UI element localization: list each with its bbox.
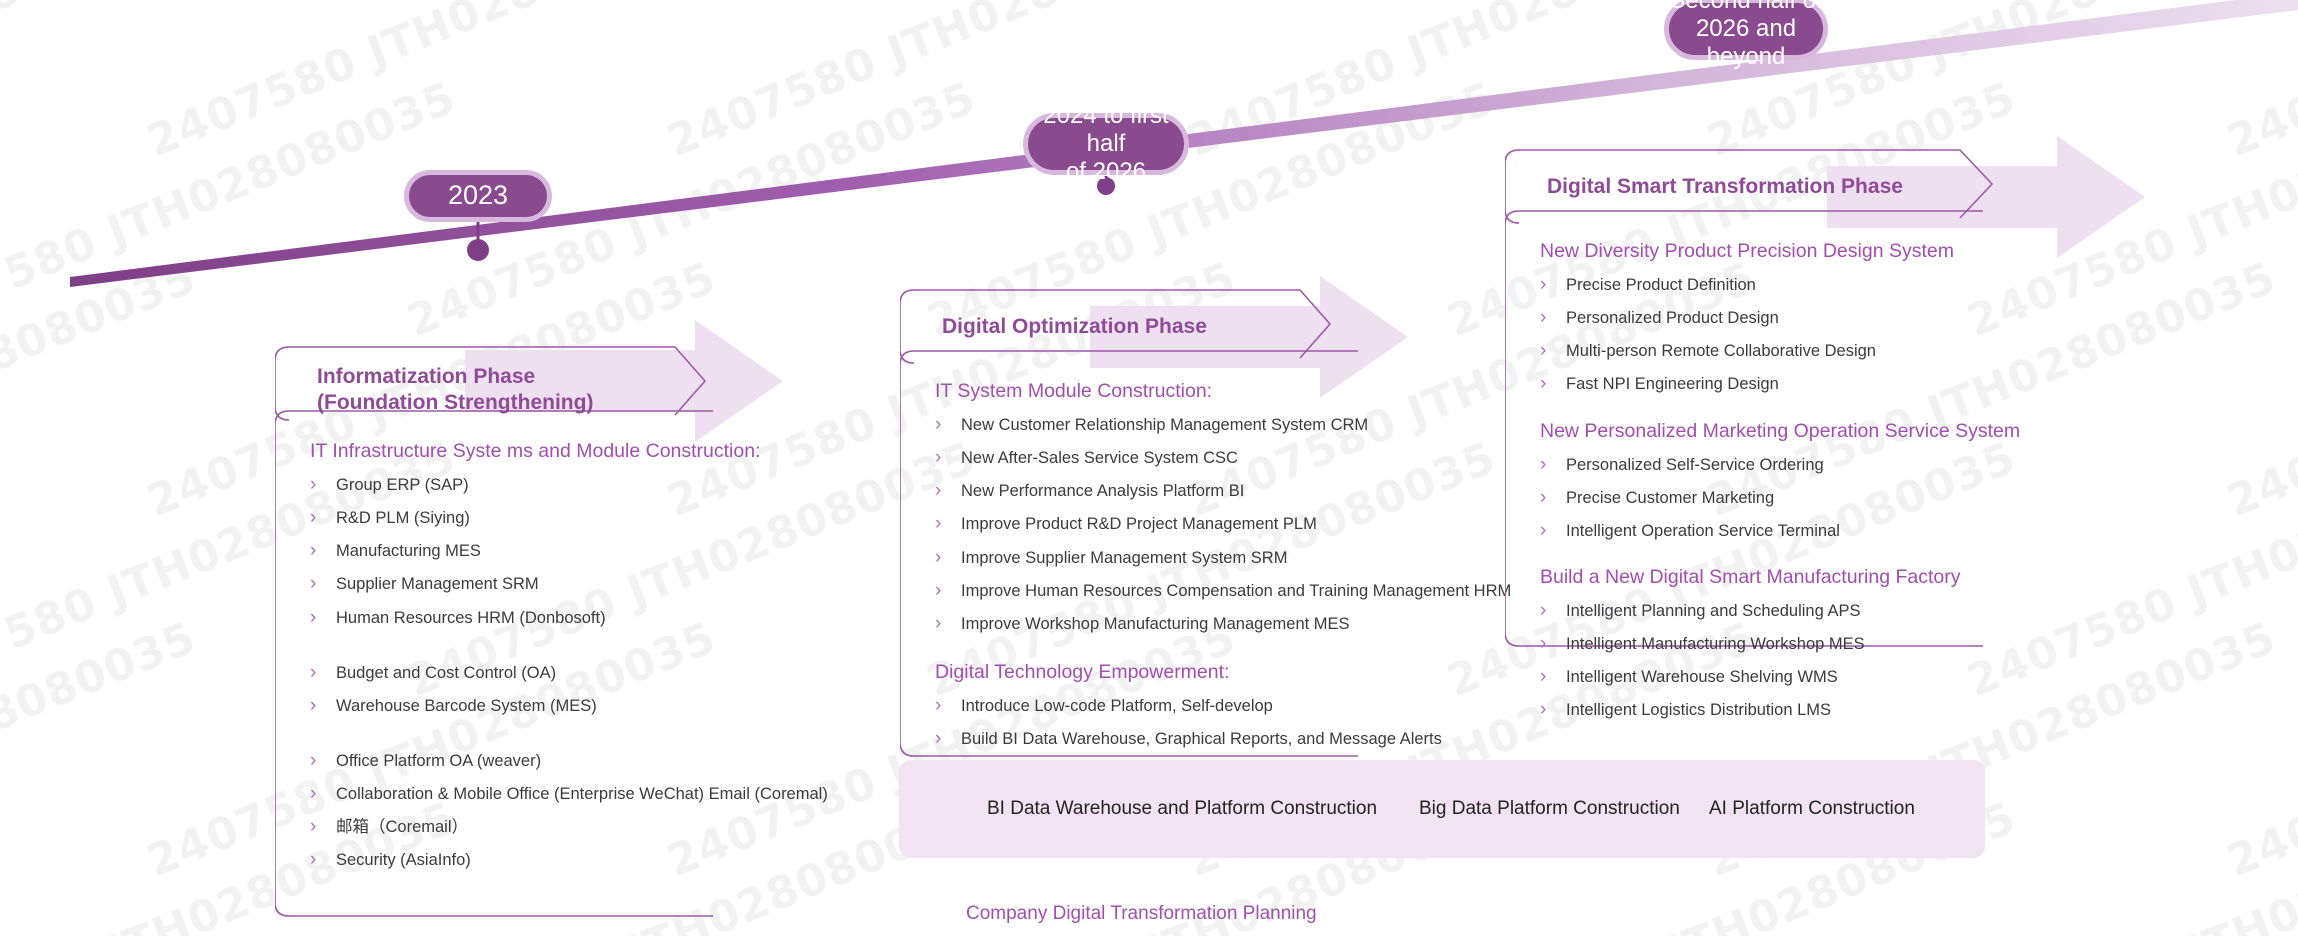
list-item[interactable]: ›Personalized Self-Service Ordering bbox=[1540, 455, 2100, 476]
list-item[interactable]: ›Improve Product R&D Project Management … bbox=[935, 514, 1555, 535]
list-spacer bbox=[310, 729, 830, 751]
list-item-label: Introduce Low-code Platform, Self-develo… bbox=[961, 697, 1273, 715]
list-spacer bbox=[935, 647, 1555, 661]
list-item[interactable]: ›Intelligent Warehouse Shelving WMS bbox=[1540, 667, 2100, 688]
list-item[interactable]: ›Precise Customer Marketing bbox=[1540, 488, 2100, 509]
infographic-canvas: 2407580 JTH0280800352407580 JTH028080035… bbox=[0, 0, 2298, 936]
platform-construction-band: BI Data Warehouse and Platform Construct… bbox=[899, 760, 1985, 858]
list-item-label: Supplier Management SRM bbox=[336, 575, 539, 593]
chevron-right-icon: › bbox=[310, 782, 316, 806]
chevron-right-icon: › bbox=[935, 413, 941, 437]
platform-item-bigdata[interactable]: Big Data Platform Construction bbox=[1419, 798, 1680, 820]
section-heading: Digital Technology Empowerment: bbox=[935, 661, 1555, 684]
watermark-text: 2407580 JTH028080035 bbox=[0, 612, 203, 887]
phase-title: Digital Optimization Phase bbox=[942, 314, 1207, 340]
list-spacer bbox=[310, 641, 830, 663]
list-item-label: Office Platform OA (weaver) bbox=[336, 752, 541, 770]
timeline-milestone-2023[interactable]: 2023 bbox=[404, 170, 552, 222]
list-item-label: Improve Product R&D Project Management P… bbox=[961, 515, 1317, 533]
chevron-right-icon: › bbox=[1540, 372, 1546, 396]
list-item-label: Precise Product Definition bbox=[1566, 276, 1756, 294]
list-item-label: Human Resources HRM (Donbosoft) bbox=[336, 609, 606, 627]
chevron-right-icon: › bbox=[935, 479, 941, 503]
chevron-right-icon: › bbox=[310, 539, 316, 563]
list-item[interactable]: ›Office Platform OA (weaver) bbox=[310, 751, 830, 772]
list-item[interactable]: ›Security (AsiaInfo) bbox=[310, 850, 830, 871]
list-item-label: New Customer Relationship Management Sys… bbox=[961, 416, 1368, 434]
list-item-label: Intelligent Logistics Distribution LMS bbox=[1566, 701, 1831, 719]
list-item[interactable]: ›Collaboration & Mobile Office (Enterpri… bbox=[310, 784, 830, 805]
list-item-label: Fast NPI Engineering Design bbox=[1566, 375, 1779, 393]
chevron-right-icon: › bbox=[935, 546, 941, 570]
list-item-label: New Performance Analysis Platform BI bbox=[961, 482, 1244, 500]
list-item[interactable]: ›Intelligent Manufacturing Workshop MES bbox=[1540, 634, 2100, 655]
chevron-right-icon: › bbox=[310, 606, 316, 630]
list-item[interactable]: ›Budget and Cost Control (OA) bbox=[310, 663, 830, 684]
phase-body-content: New Diversity Product Precision Design S… bbox=[1540, 240, 2100, 733]
list-item[interactable]: ›Improve Workshop Manufacturing Manageme… bbox=[935, 614, 1555, 635]
chevron-right-icon: › bbox=[935, 512, 941, 536]
list-item-label: Multi-person Remote Collaborative Design bbox=[1566, 342, 1876, 360]
chevron-right-icon: › bbox=[1540, 273, 1546, 297]
phase-title: Digital Smart Transformation Phase bbox=[1547, 174, 1903, 200]
phase-title: Informatization Phase(Foundation Strengt… bbox=[317, 364, 593, 415]
phase-body-content: IT Infrastructure Syste ms and Module Co… bbox=[310, 440, 830, 883]
list-item-label: Precise Customer Marketing bbox=[1566, 489, 1774, 507]
chevron-right-icon: › bbox=[310, 572, 316, 596]
list-item-label: 邮箱（Coremail） bbox=[336, 818, 468, 836]
chevron-right-icon: › bbox=[1540, 698, 1546, 722]
page-caption: Company Digital Transformation Planning bbox=[966, 903, 1317, 925]
list-item[interactable]: ›New Customer Relationship Management Sy… bbox=[935, 415, 1555, 436]
list-item-label: Intelligent Planning and Scheduling APS bbox=[1566, 602, 1860, 620]
milestone-label: 2024 to first halfof 2026 bbox=[1028, 102, 1184, 187]
list-item-label: Group ERP (SAP) bbox=[336, 476, 469, 494]
section-heading: New Diversity Product Precision Design S… bbox=[1540, 240, 2100, 263]
chevron-right-icon: › bbox=[1540, 486, 1546, 510]
list-spacer bbox=[1540, 554, 2100, 566]
chevron-right-icon: › bbox=[1540, 453, 1546, 477]
chevron-right-icon: › bbox=[1540, 632, 1546, 656]
chevron-right-icon: › bbox=[1540, 519, 1546, 543]
chevron-right-icon: › bbox=[310, 815, 316, 839]
chevron-right-icon: › bbox=[1540, 339, 1546, 363]
list-item-label: R&D PLM (Siying) bbox=[336, 509, 470, 527]
list-item[interactable]: ›Personalized Product Design bbox=[1540, 308, 2100, 329]
list-item-label: Budget and Cost Control (OA) bbox=[336, 664, 556, 682]
chevron-right-icon: › bbox=[310, 848, 316, 872]
item-list: ›Personalized Self-Service Ordering›Prec… bbox=[1540, 455, 2100, 542]
item-list: ›Intelligent Planning and Scheduling APS… bbox=[1540, 601, 2100, 721]
chevron-right-icon: › bbox=[935, 612, 941, 636]
section-heading: IT Infrastructure Syste ms and Module Co… bbox=[310, 440, 830, 463]
list-item[interactable]: ›Warehouse Barcode System (MES) bbox=[310, 696, 830, 717]
chevron-right-icon: › bbox=[935, 446, 941, 470]
list-item-label: Intelligent Warehouse Shelving WMS bbox=[1566, 668, 1838, 686]
watermark-text: 2407580 JTH028080035 bbox=[2220, 612, 2298, 887]
list-item-label: Collaboration & Mobile Office (Enterpris… bbox=[336, 785, 828, 803]
watermark-text: 2407580 JTH028080035 bbox=[1960, 792, 2298, 936]
chevron-right-icon: › bbox=[1540, 665, 1546, 689]
list-item[interactable]: ›Supplier Management SRM bbox=[310, 574, 830, 595]
item-list: ›Office Platform OA (weaver)›Collaborati… bbox=[310, 751, 830, 871]
list-item-label: Intelligent Operation Service Terminal bbox=[1566, 522, 1840, 540]
chevron-right-icon: › bbox=[310, 661, 316, 685]
list-item-label: Intelligent Manufacturing Workshop MES bbox=[1566, 635, 1865, 653]
list-item[interactable]: ›Improve Human Resources Compensation an… bbox=[935, 581, 1555, 602]
list-item[interactable]: ›邮箱（Coremail） bbox=[310, 817, 830, 838]
section-heading: IT System Module Construction: bbox=[935, 380, 1555, 403]
chevron-right-icon: › bbox=[935, 579, 941, 603]
chevron-right-icon: › bbox=[310, 694, 316, 718]
item-list: ›Group ERP (SAP)›R&D PLM (Siying)›Manufa… bbox=[310, 475, 830, 628]
chevron-right-icon: › bbox=[1540, 599, 1546, 623]
list-item[interactable]: ›Group ERP (SAP) bbox=[310, 475, 830, 496]
item-list: ›New Customer Relationship Management Sy… bbox=[935, 415, 1555, 634]
list-item[interactable]: ›Manufacturing MES bbox=[310, 541, 830, 562]
list-item[interactable]: ›New Performance Analysis Platform BI bbox=[935, 481, 1555, 502]
chevron-right-icon: › bbox=[935, 727, 941, 751]
item-list: ›Precise Product Definition›Personalized… bbox=[1540, 275, 2100, 395]
timeline-milestone-2026[interactable]: Second half of2026 and beyond bbox=[1664, 0, 1828, 60]
list-item[interactable]: ›Introduce Low-code Platform, Self-devel… bbox=[935, 696, 1555, 717]
timeline-milestone-2024[interactable]: 2024 to first halfof 2026 bbox=[1023, 113, 1189, 175]
list-item-label: Personalized Product Design bbox=[1566, 309, 1779, 327]
list-item[interactable]: ›Precise Product Definition bbox=[1540, 275, 2100, 296]
list-item[interactable]: ›Fast NPI Engineering Design bbox=[1540, 374, 2100, 395]
platform-item-bi[interactable]: BI Data Warehouse and Platform Construct… bbox=[987, 798, 1377, 820]
list-item[interactable]: ›R&D PLM (Siying) bbox=[310, 508, 830, 529]
item-list: ›Introduce Low-code Platform, Self-devel… bbox=[935, 696, 1555, 750]
list-item[interactable]: ›Intelligent Logistics Distribution LMS bbox=[1540, 700, 2100, 721]
section-heading: Build a New Digital Smart Manufacturing … bbox=[1540, 566, 2100, 589]
list-item[interactable]: ›Multi-person Remote Collaborative Desig… bbox=[1540, 341, 2100, 362]
chevron-right-icon: › bbox=[310, 506, 316, 530]
list-item-label: Manufacturing MES bbox=[336, 542, 481, 560]
list-item-label: Improve Supplier Management System SRM bbox=[961, 549, 1287, 567]
list-spacer bbox=[1540, 408, 2100, 420]
item-list: ›Budget and Cost Control (OA)›Warehouse … bbox=[310, 663, 830, 717]
chevron-right-icon: › bbox=[935, 694, 941, 718]
platform-item-ai[interactable]: AI Platform Construction bbox=[1709, 798, 1915, 820]
list-item[interactable]: ›New After-Sales Service System CSC bbox=[935, 448, 1555, 469]
list-item-label: Improve Human Resources Compensation and… bbox=[961, 582, 1511, 600]
list-item[interactable]: ›Intelligent Operation Service Terminal bbox=[1540, 521, 2100, 542]
milestone-label: 2023 bbox=[448, 180, 508, 212]
list-item-label: Warehouse Barcode System (MES) bbox=[336, 697, 597, 715]
list-item-label: Build BI Data Warehouse, Graphical Repor… bbox=[961, 730, 1442, 748]
phase-body-content: IT System Module Construction: ›New Cust… bbox=[935, 380, 1555, 762]
section-heading: New Personalized Marketing Operation Ser… bbox=[1540, 420, 2100, 443]
list-item-label: Security (AsiaInfo) bbox=[336, 851, 471, 869]
milestone-label: Second half of2026 and beyond bbox=[1669, 0, 1823, 71]
list-item[interactable]: ›Build BI Data Warehouse, Graphical Repo… bbox=[935, 729, 1555, 750]
list-item[interactable]: ›Human Resources HRM (Donbosoft) bbox=[310, 608, 830, 629]
chevron-right-icon: › bbox=[310, 473, 316, 497]
list-item-label: New After-Sales Service System CSC bbox=[961, 449, 1238, 467]
list-item[interactable]: ›Improve Supplier Management System SRM bbox=[935, 548, 1555, 569]
list-item-label: Improve Workshop Manufacturing Managemen… bbox=[961, 615, 1350, 633]
list-item-label: Personalized Self-Service Ordering bbox=[1566, 456, 1824, 474]
chevron-right-icon: › bbox=[310, 749, 316, 773]
list-item[interactable]: ›Intelligent Planning and Scheduling APS bbox=[1540, 601, 2100, 622]
chevron-right-icon: › bbox=[1540, 306, 1546, 330]
